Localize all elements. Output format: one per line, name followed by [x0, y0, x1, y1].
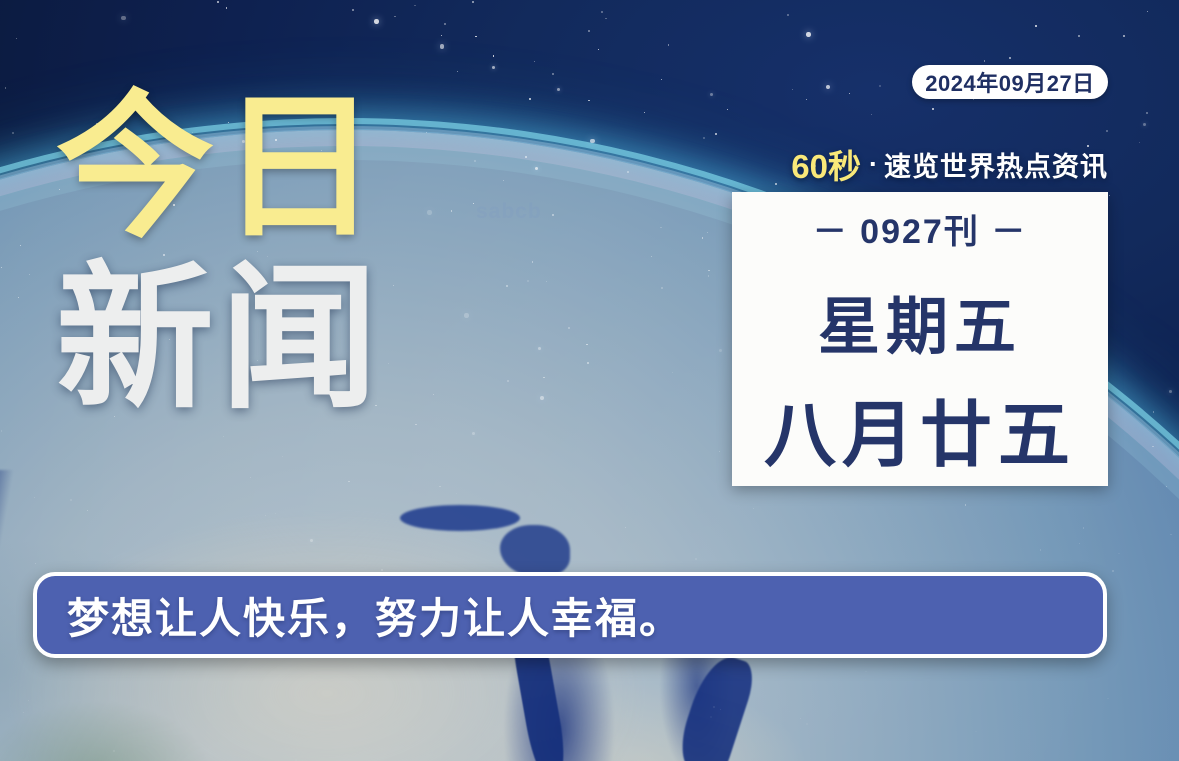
date-info-card: － 0927刊 － 星期五 八月廿五	[732, 192, 1108, 486]
tagline-separator: ·	[869, 149, 878, 180]
quote-banner: 梦想让人快乐，努力让人幸福。	[33, 572, 1107, 658]
date-badge: 2024年09月27日	[912, 65, 1108, 99]
brand-title-line-1: 今日	[56, 96, 486, 241]
earth-lake-a	[400, 505, 520, 531]
tagline-highlight: 60秒	[791, 140, 861, 188]
card-weekday-label: 星期五	[732, 276, 1108, 366]
card-lunar-date-label: 八月廿五	[732, 376, 1108, 481]
poster-canvas: sabcb 今日 新闻 2024年09月27日 60秒 · 速览世界热点资讯 －…	[0, 0, 1179, 761]
quote-banner-text: 梦想让人快乐，努力让人幸福。	[67, 585, 683, 646]
brand-title: 今日 新闻	[56, 96, 486, 413]
card-issue-label: － 0927刊 －	[732, 204, 1108, 253]
tagline-text: 速览世界热点资讯	[884, 145, 1108, 184]
date-badge-label: 2024年09月27日	[925, 66, 1094, 98]
brand-title-line-2: 新闻	[56, 267, 486, 412]
tagline: 60秒 · 速览世界热点资讯	[742, 142, 1108, 186]
